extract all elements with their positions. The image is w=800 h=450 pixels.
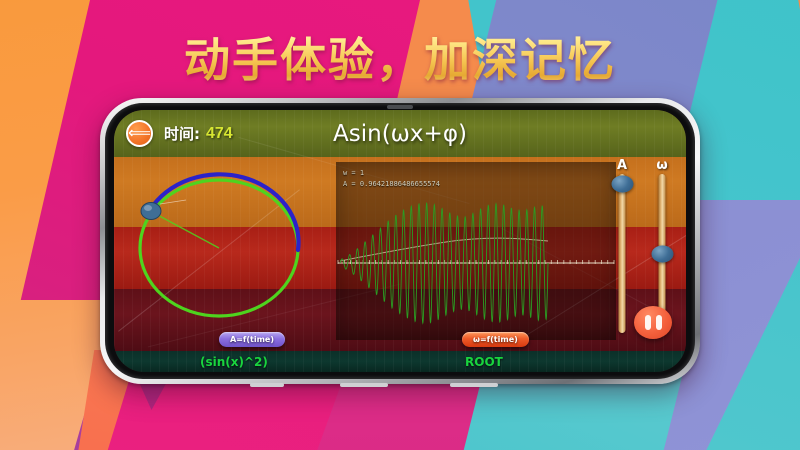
omega-function-caption: ROOT <box>465 355 503 369</box>
time-label: 时间: <box>164 123 200 144</box>
graph-waveform <box>340 203 548 323</box>
circle-marker <box>141 203 161 220</box>
slider-amplitude[interactable]: A <box>606 158 638 343</box>
slider-omega-thumb[interactable] <box>651 245 673 262</box>
back-button[interactable]: ⟸ <box>126 120 153 147</box>
circle-radius-line <box>152 212 219 248</box>
pause-icon-bar-right <box>656 315 662 330</box>
circle-visualization[interactable] <box>122 160 327 325</box>
amplitude-function-caption: (sin(x)^2) <box>200 355 268 369</box>
back-arrow-icon: ⟸ <box>128 126 151 142</box>
phone-mockup: ⟸ 时间: 474 Asin(ωx+φ) <box>100 98 700 384</box>
graph-panel[interactable]: w = 1 A = 0.96421886486655574 <box>336 162 616 340</box>
pause-button[interactable] <box>634 306 672 339</box>
amplitude-function-button[interactable]: A=f(time) <box>219 332 285 347</box>
omega-function-button[interactable]: ω=f(time) <box>462 332 529 347</box>
phone-button-1[interactable] <box>250 383 284 387</box>
app-topbar: ⟸ 时间: 474 Asin(ωx+φ) <box>114 110 686 157</box>
app-screen: ⟸ 时间: 474 Asin(ωx+φ) <box>114 110 686 372</box>
pause-icon-bar-left <box>645 315 651 330</box>
time-value: 474 <box>206 125 233 143</box>
slider-omega-label: ω <box>646 158 678 174</box>
circle-marker-highlight <box>144 205 152 211</box>
phone-bezel: ⟸ 时间: 474 Asin(ωx+φ) <box>105 103 695 379</box>
readout-w: w = 1 <box>343 168 440 179</box>
slider-amplitude-label: A <box>606 158 638 174</box>
slider-amplitude-thumb[interactable] <box>611 175 633 192</box>
readout-a: A = 0.96421886486655574 <box>343 179 440 190</box>
phone-button-3[interactable] <box>450 383 498 387</box>
phone-speaker <box>387 105 413 109</box>
phone-button-2[interactable] <box>340 383 388 387</box>
graph-readout: w = 1 A = 0.96421886486655574 <box>343 168 440 190</box>
slider-amplitude-track[interactable] <box>619 174 626 333</box>
promo-headline: 动手体验，加深记忆 <box>0 24 800 90</box>
circle-arc-traversed <box>150 174 299 250</box>
